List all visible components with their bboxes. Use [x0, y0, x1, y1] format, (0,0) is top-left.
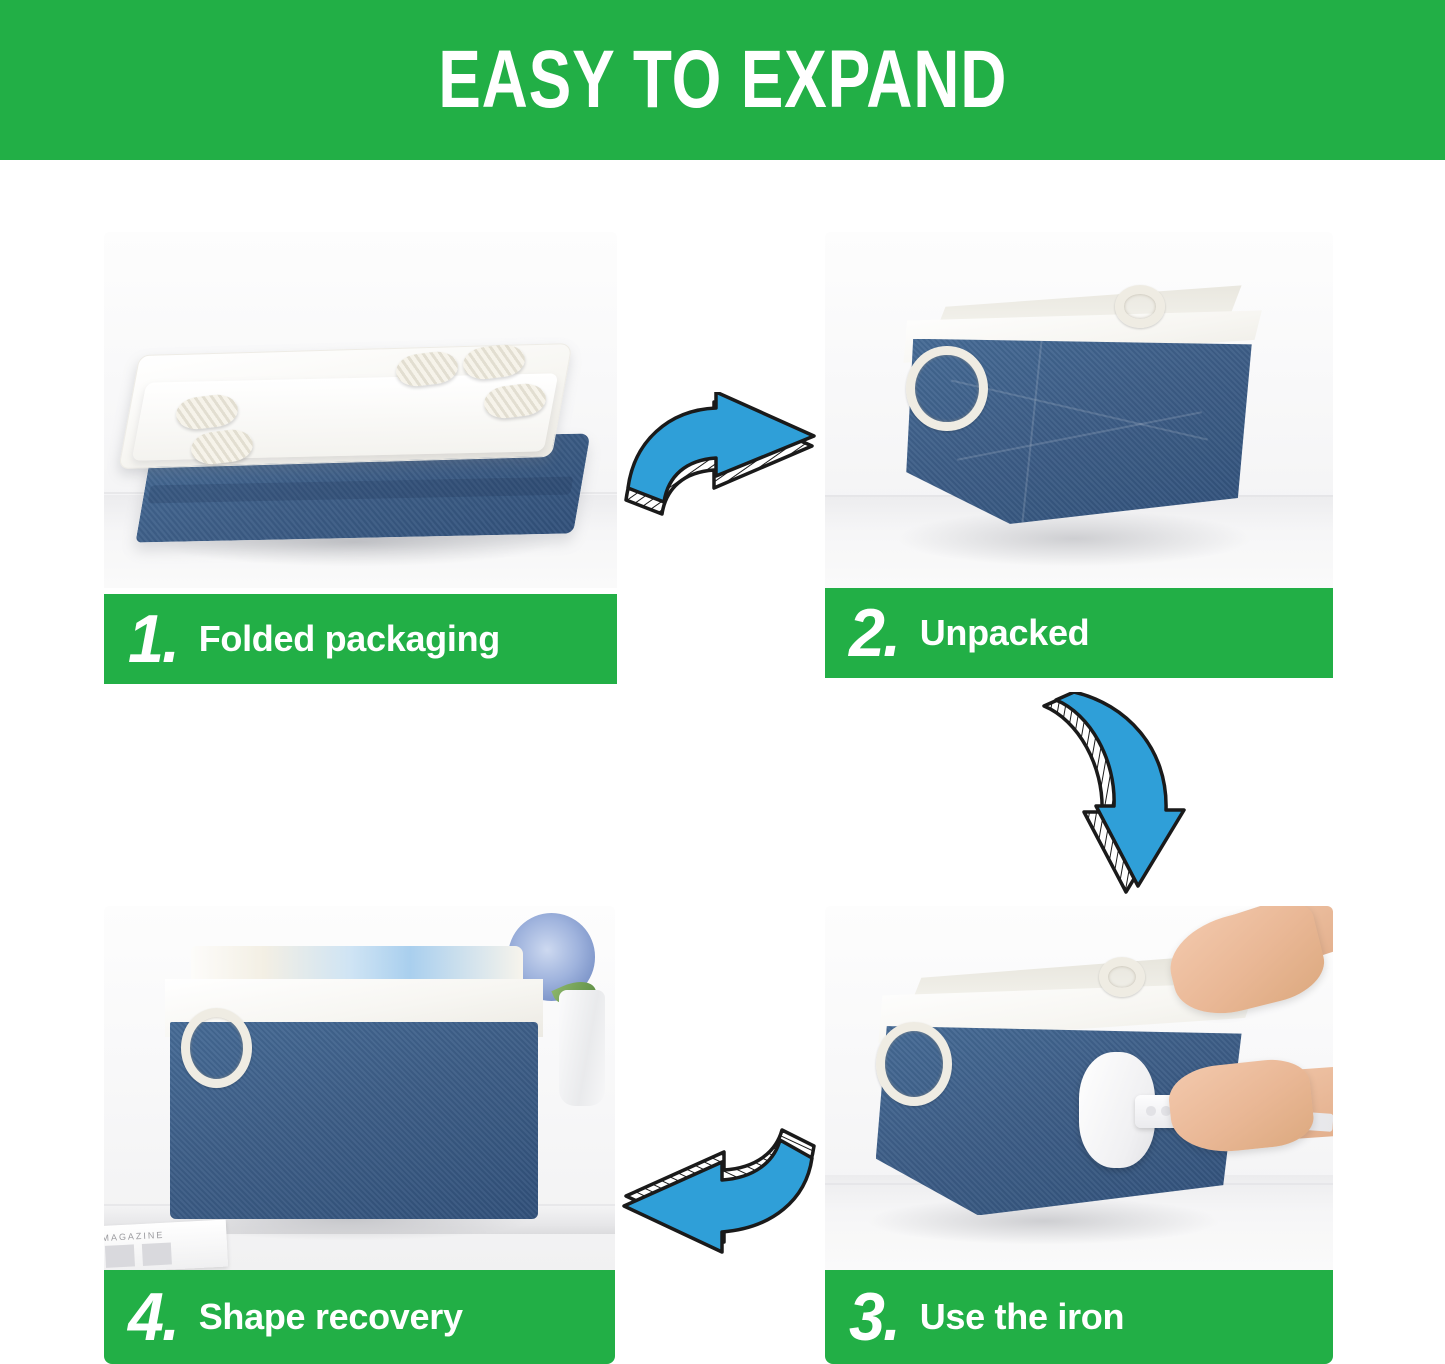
magazine-thumb: [141, 1242, 171, 1265]
arrow-down-step2-to-step3: [1032, 692, 1196, 898]
step-3-label-bar: 3. Use the iron: [825, 1270, 1333, 1364]
header-banner: EASY TO EXPAND: [0, 0, 1445, 160]
arrow-right-step1-to-step2: [622, 392, 818, 528]
step-card-4: MAGAZINE 4. Shape recovery: [104, 906, 615, 1364]
fabric-crease: [957, 411, 1202, 460]
step-2-label: Unpacked: [920, 612, 1090, 654]
rope-handle: [181, 1008, 253, 1088]
step-2-number: 2.: [849, 599, 899, 667]
step-4-label-bar: 4. Shape recovery: [104, 1270, 615, 1364]
ironing-basket-photo: [825, 906, 1333, 1270]
page-title: EASY TO EXPAND: [438, 33, 1007, 127]
rope-handle-back: [1099, 957, 1145, 997]
flower-vase: [559, 990, 605, 1106]
fabric-crease: [1021, 339, 1042, 523]
rope-handle-back: [1115, 285, 1166, 328]
arrow-left-step3-to-step4: [616, 1128, 818, 1260]
rope-handle-front: [876, 1022, 952, 1106]
magazine: MAGAZINE: [104, 1219, 228, 1270]
magazine-thumb: [104, 1244, 134, 1267]
fabric-crease: [951, 380, 1207, 441]
basket-shadow: [896, 510, 1252, 567]
step-1-number: 1.: [128, 605, 178, 673]
folded-flat-pack-photo: [104, 232, 617, 588]
steamer-button: [1146, 1106, 1156, 1116]
step-4-number: 4.: [128, 1283, 178, 1351]
step-3-label: Use the iron: [920, 1296, 1124, 1338]
step-3-number: 3.: [849, 1283, 899, 1351]
step-2-label-bar: 2. Unpacked: [825, 588, 1333, 678]
step-4-label: Shape recovery: [199, 1296, 463, 1338]
step-card-1: 1. Folded packaging: [104, 232, 617, 684]
rope-handle-front: [906, 346, 987, 431]
step-card-3: 3. Use the iron: [825, 906, 1333, 1364]
step-1-label-bar: 1. Folded packaging: [104, 594, 617, 684]
step-card-2: 2. Unpacked: [825, 232, 1333, 678]
magazine-caption: MAGAZINE: [104, 1229, 164, 1242]
shape-recovered-basket-photo: MAGAZINE: [104, 906, 615, 1270]
unpacked-basket-photo: [825, 232, 1333, 588]
step-1-label: Folded packaging: [199, 618, 500, 660]
